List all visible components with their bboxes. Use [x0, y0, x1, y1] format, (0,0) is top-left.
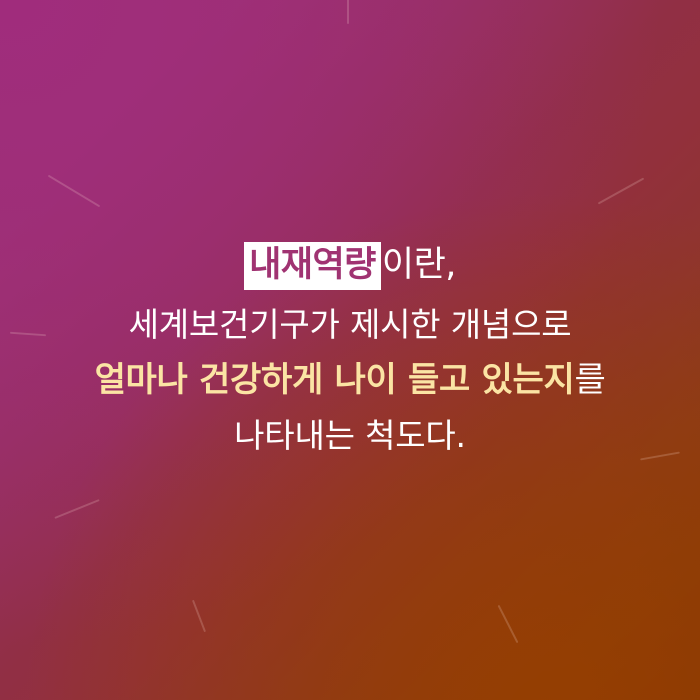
body-line-1: 세계보건기구가 제시한 개념으로 — [0, 308, 700, 341]
headline-line-1: 내재역량이란, — [0, 248, 700, 283]
body-line-3: 나타내는 척도다. — [0, 419, 700, 452]
emphasis-phrase: 얼마나 건강하게 나이 들고 있는지 — [95, 360, 575, 400]
card-content: 내재역량이란, 세계보건기구가 제시한 개념으로 얼마나 건강하게 나이 들고 … — [0, 0, 700, 700]
promo-card: 내재역량이란, 세계보건기구가 제시한 개념으로 얼마나 건강하게 나이 들고 … — [0, 0, 700, 700]
body-line-2: 얼마나 건강하게 나이 들고 있는지를 — [0, 363, 700, 397]
emphasis-phrase-particle: 를 — [574, 360, 605, 400]
highlighted-term: 내재역량 — [244, 242, 381, 290]
headline-line-1-suffix: 이란, — [382, 245, 456, 285]
